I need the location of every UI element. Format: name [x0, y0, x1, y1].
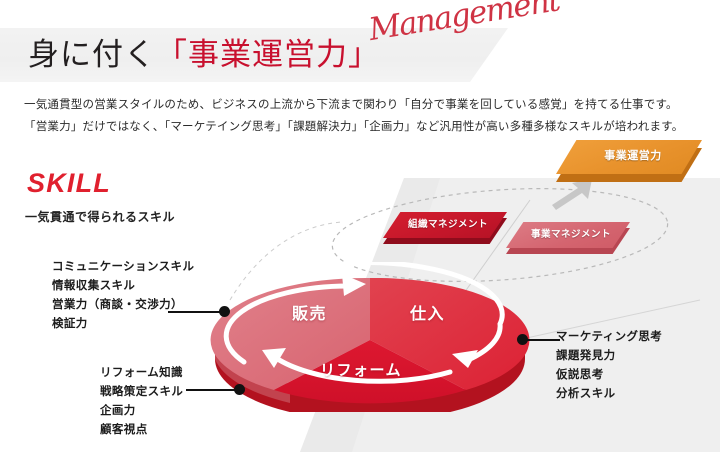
list-item: 情報収集スキル	[52, 277, 194, 296]
slab-label-top: 事業運営力	[560, 138, 706, 172]
list-item: リフォーム知識	[100, 364, 183, 383]
callout-list-top-left: コミュニケーションスキル 情報収集スキル 営業力（商談・交渉力） 検証力	[52, 258, 194, 334]
list-item: 営業力（商談・交渉力）	[52, 296, 194, 315]
lead-line-1: 一気通貫型の営業スタイルのため、ビジネスの上流から下流まで関わり「自分で事業を回…	[24, 94, 700, 116]
list-item: 顧客視点	[100, 421, 183, 440]
connector-dot-right	[517, 334, 528, 345]
slab-label-org: 組織マネジメント	[386, 210, 510, 236]
slab-organization-management: 組織マネジメント	[383, 212, 507, 238]
connector-dot-top-left	[219, 306, 230, 317]
list-item: 仮説思考	[556, 366, 662, 385]
slab-label-biz: 事業マネジメント	[509, 220, 633, 246]
skill-subheading: 一気貫通で得られるスキル	[25, 208, 175, 225]
lead-paragraph: 一気通貫型の営業スタイルのため、ビジネスの上流から下流まで関わり「自分で事業を回…	[24, 94, 700, 138]
page-title: 身に付く「事業運営力」	[28, 31, 380, 79]
callout-list-right: マーケティング思考 課題発見力 仮説思考 分析スキル	[556, 328, 662, 404]
page-title-accent: 「事業運営力」	[156, 37, 380, 72]
list-item: コミュニケーションスキル	[52, 258, 194, 277]
list-item: 検証力	[52, 315, 194, 334]
list-item: 分析スキル	[556, 385, 662, 404]
list-item: 企画力	[100, 402, 183, 421]
page-title-plain: 身に付く	[28, 37, 156, 72]
slab-business-management: 事業マネジメント	[506, 222, 630, 248]
lead-line-2: 「営業力」だけではなく、「マーケテイング思考」「課題解決力」「企画力」など汎用性…	[24, 116, 700, 138]
business-cycle-pie-chart	[200, 262, 540, 412]
pie-label-hanbai: 販売	[292, 300, 327, 324]
slide-canvas: 身に付く「事業運営力」 Management 一気通貫型の営業スタイルのため、ビ…	[0, 0, 720, 452]
list-item: 課題発見力	[556, 347, 662, 366]
list-item: 戦略策定スキル	[100, 383, 183, 402]
pie-label-shiire: 仕入	[410, 300, 445, 324]
slab-business-management-power: 事業運営力	[556, 140, 702, 174]
connector-line-right	[524, 339, 560, 341]
list-item: マーケティング思考	[556, 328, 662, 347]
connector-dot-bottom-left	[234, 384, 245, 395]
skill-heading: SKILL	[27, 168, 111, 199]
callout-list-bottom-left: リフォーム知識 戦略策定スキル 企画力 顧客視点	[100, 364, 183, 440]
pie-label-reform: リフォーム	[320, 359, 402, 380]
